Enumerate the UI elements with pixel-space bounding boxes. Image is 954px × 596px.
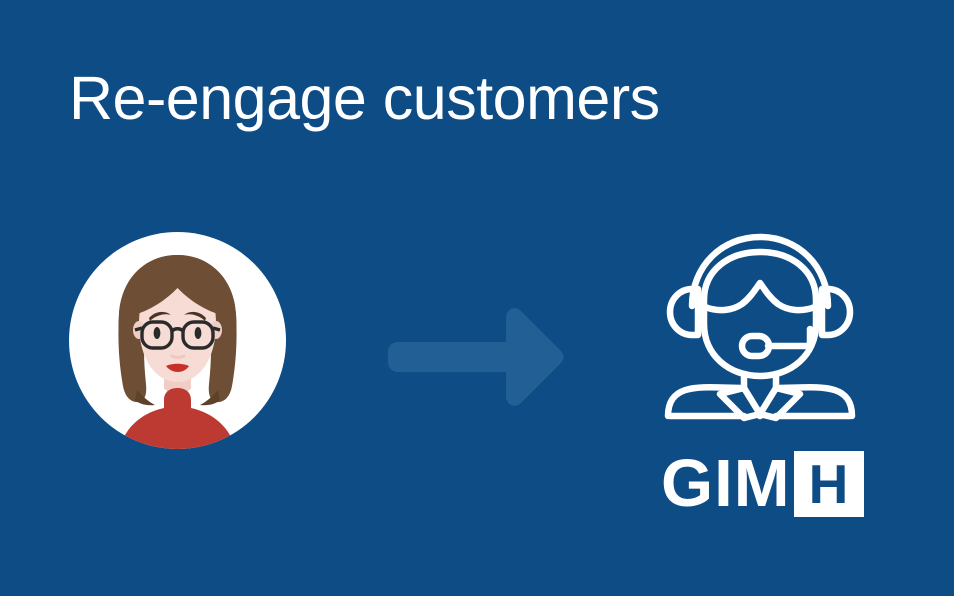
brand-logo-wordmark: GIM bbox=[661, 451, 791, 517]
right-arrow-icon bbox=[388, 305, 568, 409]
customer-avatar bbox=[69, 232, 286, 449]
brand-logo: GIM H bbox=[661, 451, 864, 517]
slide-canvas: Re-engage customers bbox=[0, 0, 954, 596]
agent-mic-boom bbox=[768, 329, 810, 346]
brand-logo-mark: H bbox=[794, 451, 864, 517]
avatar-eye-left bbox=[154, 327, 161, 339]
support-agent-headset-icon bbox=[660, 228, 860, 422]
avatar-nose bbox=[172, 356, 184, 358]
page-title: Re-engage customers bbox=[69, 62, 660, 134]
agent-hairline bbox=[705, 283, 815, 310]
agent-base-dot bbox=[757, 413, 764, 420]
avatar-eye-right bbox=[195, 327, 202, 339]
brand-logo-mark-letter: H bbox=[809, 457, 849, 512]
arrow-shape bbox=[388, 308, 564, 406]
